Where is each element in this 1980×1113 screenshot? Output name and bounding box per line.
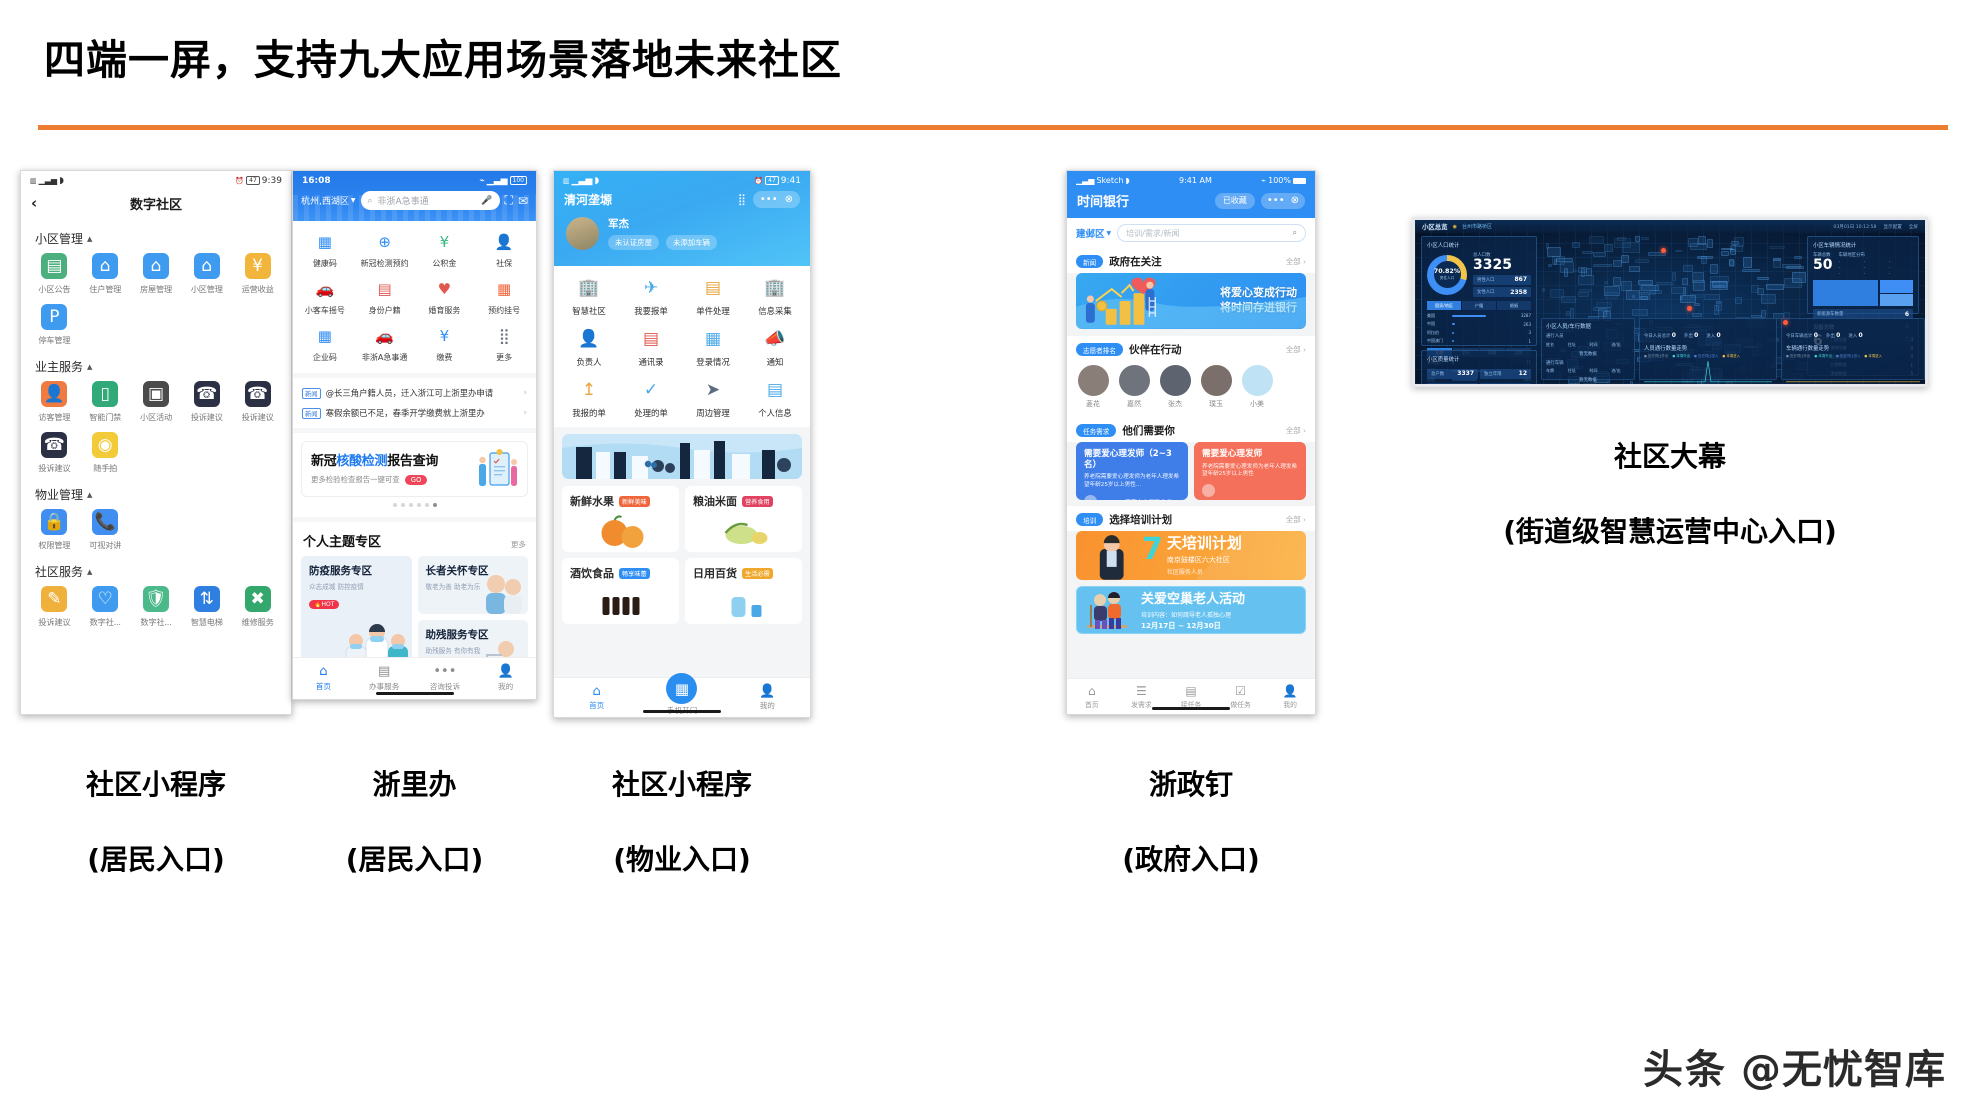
app-label: 权限管理 [29,539,80,551]
service-item[interactable]: ▤身份户籍 [355,278,415,316]
map-alert-dot[interactable] [1687,306,1692,311]
dash-tab[interactable]: 户籍 [1462,301,1496,310]
map-block [1546,243,1549,248]
app-item[interactable]: ◉随手拍 [80,432,131,474]
tab-首页[interactable]: ⌂首页 [293,665,354,692]
region-cell: · [1889,260,1913,265]
app-item[interactable]: ✎投诉建议 [29,586,80,628]
service-item[interactable]: ¥缴费 [415,325,475,363]
city-banner[interactable] [562,434,802,479]
shop-product-illustration [570,583,671,623]
function-item[interactable]: ➤周边管理 [682,378,744,419]
map-block [1714,305,1719,315]
app-item[interactable]: P停车管理 [29,304,80,346]
map-block [1542,288,1546,291]
dash-tab[interactable]: 婚姻 [1497,301,1531,310]
search-icon: ⌕ [368,196,373,206]
region-cell: · [1864,260,1888,265]
need-card[interactable]: 需要爱心理发师（2~3名）养老院需要爱心理发师为老年人理发希望年龄25岁以上男性… [1076,442,1188,500]
more-dots-icon[interactable]: ••• [1267,195,1285,206]
location-selector[interactable]: 杭州,西湖区 ▼ [301,194,356,207]
caption-5-line2: (街道级智慧运营中心入口) [1412,513,1928,551]
status-bar: ▁▃▅ Sketch ◗ 9:41 AM ⌁ 100% [1067,171,1315,188]
carousel-dots[interactable] [301,497,528,509]
tab-mine[interactable]: 👤 我的 [725,685,810,711]
service-label: 预约挂号 [474,305,534,316]
app-item[interactable]: ¥运营收益 [232,253,283,295]
phone-mockup-community-miniprogram-property: ▥ ▁▃▅ ◗ ⏰ 47 9:41 清河垄塬 ⣿ ••• ⊗ [553,170,811,718]
vehicle-total-value: 50 [1813,258,1832,272]
carousel-dot[interactable] [401,503,405,507]
promo-title-c: 报告查询 [387,454,438,469]
caret-up-icon: ▲ [87,363,92,371]
zone-more-link[interactable]: 更多 [511,539,526,550]
user-name: 军杰 [608,216,717,231]
wrench-icon: ✖ [245,586,271,612]
home-icon: ⌂ [554,685,639,698]
telephone-icon: ☎ [41,432,67,458]
app-item[interactable]: ⌂房屋管理 [131,253,182,295]
user-icon: 👤 [475,665,536,678]
app-header: ▁▃▅ Sketch ◗ 9:41 AM ⌁ 100% 时间银行 已收藏 ••• [1067,171,1315,218]
app-item[interactable]: ⌂住户管理 [80,253,131,295]
promo-sub-text: 更多检验检查报告一键可查 [311,474,400,485]
wifi-icon: ◗ [594,176,599,186]
donut-pct: 70.82% [1434,268,1460,275]
section-tag: 志愿者排名 [1076,343,1123,356]
search-input[interactable]: ⌕ 非浙A急事通 🎤 [361,191,500,210]
app-label: 停车管理 [29,334,80,346]
section-all-link[interactable]: 全部 › [1286,425,1306,436]
app-label: 小区管理 [181,283,232,295]
service-label: 社保 [474,258,534,269]
kpi-value: 0 [1694,332,1698,339]
quality-kpi: 车位24 [1427,383,1478,387]
bar-label: 中国澳门 [1427,338,1449,344]
map-block [1786,266,1804,269]
tab-首页[interactable]: ⌂首页 [1067,685,1117,709]
carousel-dot[interactable] [393,503,397,507]
close-circle-icon[interactable]: ⊗ [1291,195,1299,206]
tab-做任务[interactable]: ☑做任务 [1216,685,1266,709]
function-label: 通讯录 [620,356,682,368]
kpi-row: 女性人口 2358 [1473,287,1531,297]
compass-icon: ➤ [701,378,725,402]
mini-program-grid-icon[interactable]: ⣿ [738,193,746,206]
shop-card[interactable]: 酒饮食品畅享味蕾 [562,558,679,624]
app-item[interactable]: 📞可视对讲 [80,509,131,551]
map-block [1548,264,1552,267]
dashboard-title: 小区总览 [1422,222,1448,231]
region-cell: · [1838,272,1862,277]
volunteer-name: 璞玉 [1197,399,1235,409]
kpi-value: 867 [1514,276,1527,283]
training-number: 7 [1142,536,1163,565]
shop-card[interactable]: 新鲜水果新鲜美味 [562,486,679,552]
service-item[interactable]: ⊕新冠检测预约 [355,231,415,269]
caption-3: 社区小程序 (物业入口) [553,728,811,916]
promo-cta-button[interactable]: GO [405,475,428,485]
app-label: 访客管理 [29,411,80,423]
function-item[interactable]: ▦登录情况 [682,327,744,368]
app-item[interactable]: ♡数字社... [80,586,131,628]
map-block [1561,296,1576,303]
marriage-icon: ♥ [433,278,456,301]
section-header-1[interactable]: 业主服务▲ [21,346,291,381]
shop-card[interactable]: 粮油米面营养食用 [685,486,802,552]
building-data-icon: 🏢 [763,276,787,300]
section-title: 小区管理 [35,230,83,247]
more-dots-icon[interactable]: ••• [760,194,778,205]
training-content: 7 天培训计划 南京鼓楼区六大社区 社区服务人员 [1142,536,1242,576]
service-label: 小客车摇号 [295,305,355,316]
caption-2: 浙里办 (居民入口) [292,728,537,916]
service-label: 婚育服务 [415,305,475,316]
capsule-menu[interactable]: ••• ⊗ [1261,193,1305,209]
map-block [1638,280,1654,285]
capsule-menu[interactable]: ••• ⊗ [753,191,800,208]
training2-content: 关爱空巢老人活动 培训内容：如何疏导老人孤独心理 12月17日 ~ 12月30日 [1141,593,1245,631]
tab-我的[interactable]: 👤我的 [1265,685,1315,709]
map-block [1710,264,1718,274]
profile-row[interactable]: 军杰 未认证房屋未添加车辆 [554,214,810,256]
user-icon: 👤 [1265,685,1315,697]
training-card-elderly[interactable]: 关爱空巢老人活动 培训内容：如何疏导老人孤独心理 12月17日 ~ 12月30日 [1076,586,1306,634]
need-card[interactable]: 需要爱心理发师养老院需要爱心理发师为老年人理发希望年龄25岁以上男性 [1194,442,1306,500]
shop-header: 新鲜水果新鲜美味 [570,493,671,509]
volunteer-item[interactable]: 璞玉 [1197,365,1235,409]
app-item[interactable]: 🛡数字社... [131,586,182,628]
app-label: 小区活动 [131,411,182,423]
chart-kpi: 进入 0 [1848,322,1862,341]
caption-1-line2: (居民入口) [20,841,292,879]
elderly-illustration [480,570,526,614]
region-cell: · [1838,260,1862,265]
service-item[interactable]: ♥婚育服务 [415,278,475,316]
map-block [1680,295,1697,303]
bar-value: 1 [1528,339,1531,344]
app-item[interactable]: ☎投诉建议 [181,381,232,423]
section-all-link[interactable]: 全部 › [1286,344,1306,355]
status-right: ⌁ ▁▃▅ 100 [479,176,527,186]
map-block [1579,289,1591,292]
function-label: 通知 [744,356,806,368]
section-all-link[interactable]: 全部 › [1286,514,1306,525]
volunteer-item[interactable]: 小美 [1238,365,1276,409]
promo-banner[interactable]: 新冠核酸检测报告查询 更多检验检查报告一键可查 GO [301,441,528,497]
population-kpis: 总人口数 3325 男性人口 867 女性人口 2358 [1473,252,1531,297]
tab-label: 首页 [316,682,331,691]
section-grid-0: ▤小区公告⌂住户管理⌂房屋管理⌂小区管理¥运营收益P停车管理 [21,253,291,346]
training-sub1: 南京鼓楼区六大社区 [1167,555,1242,565]
table-col: 进/出 [1611,368,1630,374]
kpi-label: 进入 [1706,334,1716,339]
person-kpis: 今日人员总计 0外出 0进入 0 [1644,322,1772,341]
map-block [1572,242,1580,248]
training2-title: 关爱空巢老人活动 [1141,593,1245,606]
table-col: 时间 [1590,342,1609,348]
map-block [1682,278,1688,285]
app-item[interactable]: ▯智能门禁 [80,381,131,423]
need-footer: 南京市玄武区 1.2km [1084,495,1180,500]
app-item[interactable]: ☎投诉建议 [29,432,80,474]
signal-icon: ▁▃▅ [572,176,593,186]
doc-upload-icon: ↥ [577,378,601,402]
dash-tab[interactable]: 国家/地区 [1427,301,1461,310]
close-circle-icon[interactable]: ⊗ [785,194,793,205]
person-x-axis: 周一周二周三周四周五周六周日 [1644,386,1772,387]
watermark-logo: 头条 [1643,1037,1727,1095]
volunteer-item[interactable]: 菱花 [1074,365,1112,409]
function-item[interactable]: 👤负责人 [558,327,620,368]
map-block [1671,287,1686,294]
axis-tick: 周三 [1684,386,1691,387]
telephone-icon: ☎ [245,381,271,407]
avatar [1078,365,1109,396]
app-item[interactable]: 👤访客管理 [29,381,80,423]
kpi-label: 今日人员总计 [1644,334,1672,339]
population-bars-1: 美国3287中国263阿拉伯3中国澳门1 [1427,313,1531,345]
watermark-handle: @无忧智库 [1741,1037,1946,1095]
service-item[interactable]: 🚗非浙A急事通 [355,325,415,363]
tab-接任务[interactable]: ▤接任务 [1166,685,1216,709]
map-block [1640,296,1648,301]
function-item[interactable]: ▤个人信息 [744,378,806,419]
scan-icon[interactable]: ⛶ [505,193,513,208]
phone-mockup-community-miniprogram-resident: ▥ ▁▃▅ ◗ ⏰ 47 9:39 ‹ 数字社区 小区管理▲▤小区公告⌂住户管理… [20,170,292,715]
map-block [1735,297,1742,304]
function-item[interactable]: ▤通讯录 [620,327,682,368]
function-item[interactable]: ↥我报的单 [558,378,620,419]
caret-up-icon: ▲ [87,491,92,499]
shop-card[interactable]: 日用百货生活必需 [685,558,802,624]
search-icon[interactable]: ⌕ [1293,228,1297,238]
map-block [1632,295,1635,297]
status-time: 9:39 [262,176,282,186]
news-item[interactable]: 新闻@长三角户籍人员，迁入浙江可上浙里办申请› [302,383,527,403]
shop-badge: 新鲜美味 [619,496,650,507]
service-label: 公积金 [415,258,475,269]
volunteer-item[interactable]: 嘉然 [1115,365,1153,409]
hero-banner[interactable]: 将爱心变成行动 将时间存进银行 [1076,273,1306,329]
district-selector[interactable]: 建邺区 ▼ [1076,226,1111,240]
map-block [1688,238,1698,247]
service-grid: ▦健康码⊕新冠检测预约¥公积金👤社保🚗小客车摇号▤身份户籍♥婚育服务▦预约挂号▦… [293,221,536,373]
wifi-icon: ◗ [1125,176,1129,185]
gender-donut-chart: 70.82% 男性人口 [1427,255,1467,295]
table-col: 姓名 [1546,342,1565,348]
shop-header: 粮油米面营养食用 [693,493,794,509]
kpi-value: 0 [1859,332,1863,339]
carousel-dot[interactable] [425,503,429,507]
population-tabs-1[interactable]: 国家/地区户籍婚姻 [1427,301,1531,310]
carousel-dot[interactable] [409,503,413,507]
shop-product-illustration [693,583,794,623]
function-item[interactable]: 📣通知 [744,327,806,368]
app-header: 16:08 ⌁ ▁▃▅ 100 杭州,西湖区 ▼ ⌕ 非浙A急事通 🎤 ⛶ [293,171,536,221]
volunteer-item[interactable]: 张杰 [1156,365,1194,409]
news-text: @长三角户籍人员，迁入浙江可上浙里办申请 [326,387,494,399]
zone-card-title: 防疫服务专区 [309,563,404,578]
bar-value: 3 [1528,330,1531,335]
app-label: 房屋管理 [131,283,182,295]
app-label: 数字社... [131,616,182,628]
home-heart-icon: ♡ [92,586,118,612]
mic-icon[interactable]: 🎤 [481,196,492,206]
map-block [1641,285,1658,291]
section-header-2[interactable]: 物业管理▲ [21,474,291,509]
function-item[interactable]: 🏢信息采集 [744,276,806,317]
axis-tick: 周六 [1745,386,1752,387]
car-icon: 🚗 [313,278,336,301]
axis-tick: 周四 [1705,386,1712,387]
person-sparkline [1644,358,1772,384]
region-cell: · [1889,272,1913,277]
status-right: ⏰ 47 9:41 [754,176,801,186]
app-item[interactable]: ✖维修服务 [232,586,283,628]
shop-product-illustration [570,511,671,551]
dashboard-area-selector[interactable]: 台州市路桥区 [1462,223,1492,230]
traffic-tables: 通行人员姓名住址时间进/出暂无数据通行车辆车牌住址时间进/出暂无数据 [1546,333,1630,383]
app-item[interactable]: ▣小区活动 [131,381,182,423]
function-item[interactable]: ▤单件处理 [682,276,744,317]
tab-发需求[interactable]: ☰发需求 [1117,685,1167,709]
profile-chip[interactable]: 未添加车辆 [666,235,717,250]
kpi-value: 24 [1466,385,1474,388]
status-right: ⌁ 100% [1261,176,1306,185]
battery-icon [1293,178,1306,184]
app-item[interactable]: ☎投诉建议 [232,381,283,423]
section-tag: 任务需求 [1076,424,1116,437]
shop-title: 酒饮食品 [570,565,614,581]
service-item[interactable]: ▦预约挂号 [474,278,534,316]
map-block [1730,249,1735,255]
caption-4: 浙政钉 (政府入口) [1066,728,1316,916]
phone-mockup-zhezhengding: ▁▃▅ Sketch ◗ 9:41 AM ⌁ 100% 时间银行 已收藏 ••• [1066,170,1316,715]
shop-title: 粮油米面 [693,493,737,509]
form-edit-icon: ▤ [701,276,725,300]
need-desc: 养老院需要爱心理发师为老年人理发希望年龄25岁以上男性... [1084,474,1180,489]
dashboard-display-config[interactable]: 显示配置 [1883,224,1901,230]
panel-traffic: 小区人员/车行数据 通行人员姓名住址时间进/出暂无数据通行车辆车牌住址时间进/出… [1541,318,1635,380]
total-population: 3325 [1473,258,1531,272]
mail-icon[interactable]: ✉ [518,194,528,208]
service-item[interactable]: ¥公积金 [415,231,475,269]
visitor-add-icon: 👤 [41,381,67,407]
tab-home[interactable]: ⌂ 首页 [554,685,639,711]
contacts-icon: ▤ [639,327,663,351]
nav-bar: ‹ 数字社区 [21,188,291,218]
region-cell: · [1838,266,1862,271]
list-icon: ☰ [1117,685,1167,697]
chart-title: 车辆通行数量走势 [1786,344,1920,352]
service-item[interactable]: ▦健康码 [295,231,355,269]
zone-header: 个人主题专区 更多 [293,522,536,556]
caption-1: 社区小程序 (居民入口) [20,728,292,916]
tab-咨询投诉[interactable]: •••咨询投诉 [415,665,476,692]
function-item[interactable]: ✈我要报单 [620,276,682,317]
map-alert-dot[interactable] [1783,320,1788,325]
section-header-0[interactable]: 小区管理▲ [21,218,291,253]
map-block [1589,236,1604,244]
carousel-dot[interactable] [417,503,421,507]
search-row: 杭州,西湖区 ▼ ⌕ 非浙A急事通 🎤 ⛶ ✉ [293,188,536,217]
profile-chip[interactable]: 未认证房屋 [608,235,659,250]
carousel-dot[interactable] [433,503,437,507]
avatar [566,217,599,250]
avatar [1242,365,1273,396]
service-item[interactable]: ▦企业码 [295,325,355,363]
app-label: 智慧电梯 [181,616,232,628]
calendar-check-icon: ▦ [701,327,725,351]
section-all-link[interactable]: 全部 › [1286,256,1306,267]
panel-vehicle: 小区车辆情况统计 车辆总数 50 车辆地区分布 ········· 新能源车数量… [1807,236,1919,314]
kpi-label: 外出 [1684,334,1694,339]
section-header-3[interactable]: 社区服务▲ [21,551,291,586]
telephone-icon: ☎ [194,381,220,407]
dashboard-fullscreen[interactable]: 全屏 [1909,224,1918,230]
map-block [1694,303,1700,306]
training-card-7day[interactable]: 7 天培训计划 南京鼓楼区六大社区 社区服务人员 [1076,531,1306,580]
shop-badge: 生活必需 [742,568,773,579]
quality-kpi: 独立年限12 [1480,369,1531,379]
app-label: 小区公告 [29,283,80,295]
lock-icon: 🔒 [41,509,67,535]
app-label: 投诉建议 [181,411,232,423]
app-item[interactable]: ⌂小区管理 [181,253,232,295]
search-input[interactable]: 培训/需求/新闻 ⌕ [1117,224,1306,242]
tab-办事服务[interactable]: ▤办事服务 [354,665,415,692]
tab-我的[interactable]: 👤我的 [475,665,536,692]
service-item[interactable]: ⣿更多 [474,325,534,363]
title-divider [38,125,1948,130]
map-alert-dot[interactable] [1661,248,1666,253]
bar-row: 中国263 [1427,321,1531,327]
favorite-button[interactable]: 已收藏 [1215,193,1255,209]
function-item[interactable]: 🏢智慧社区 [558,276,620,317]
section-title: 物业管理 [35,486,83,503]
kpi-value: 12 [1519,370,1527,377]
service-item[interactable]: 👤社保 [474,231,534,269]
need-footer [1202,484,1298,497]
service-item[interactable]: 🚗小客车摇号 [295,278,355,316]
service-label: 缴费 [415,352,475,363]
location-pin-icon: ◉ [1453,224,1457,230]
document-edit-icon: ✎ [41,586,67,612]
app-item[interactable]: ▤小区公告 [29,253,80,295]
app-sections: 小区管理▲▤小区公告⌂住户管理⌂房屋管理⌂小区管理¥运营收益P停车管理业主服务▲… [21,218,291,628]
news-item[interactable]: 新闻寒假余额已不足，春季开学缴费就上浙里办› [302,403,527,423]
zone-card-elderly[interactable]: 长者关怀专区 敬老为善 助老为乐 [418,556,529,614]
promo-title-a: 新冠 [311,454,336,469]
calendar-plus-icon: ▦ [493,278,516,301]
app-item[interactable]: ⇅智慧电梯 [181,586,232,628]
function-label: 信息采集 [744,305,806,317]
search-row: 建邺区 ▼ 培训/需求/新闻 ⌕ [1067,218,1315,248]
service-icon: ▤ [354,665,415,678]
bar-value: 3287 [1521,313,1531,318]
person-line-chart [1644,358,1772,384]
tab-label: 首页 [589,701,604,710]
shop-product-illustration [693,511,794,551]
caption-1-line1: 社区小程序 [20,766,292,804]
chart-kpi: 今日人员总计 0 [1644,322,1676,341]
bar-value: 263 [1523,386,1531,388]
axis-tick: 周日 [1913,386,1920,387]
app-item[interactable]: 🔒权限管理 [29,509,80,551]
function-item[interactable]: ✓处理的单 [620,378,682,419]
bluetooth-icon: ⌁ [1261,176,1266,185]
